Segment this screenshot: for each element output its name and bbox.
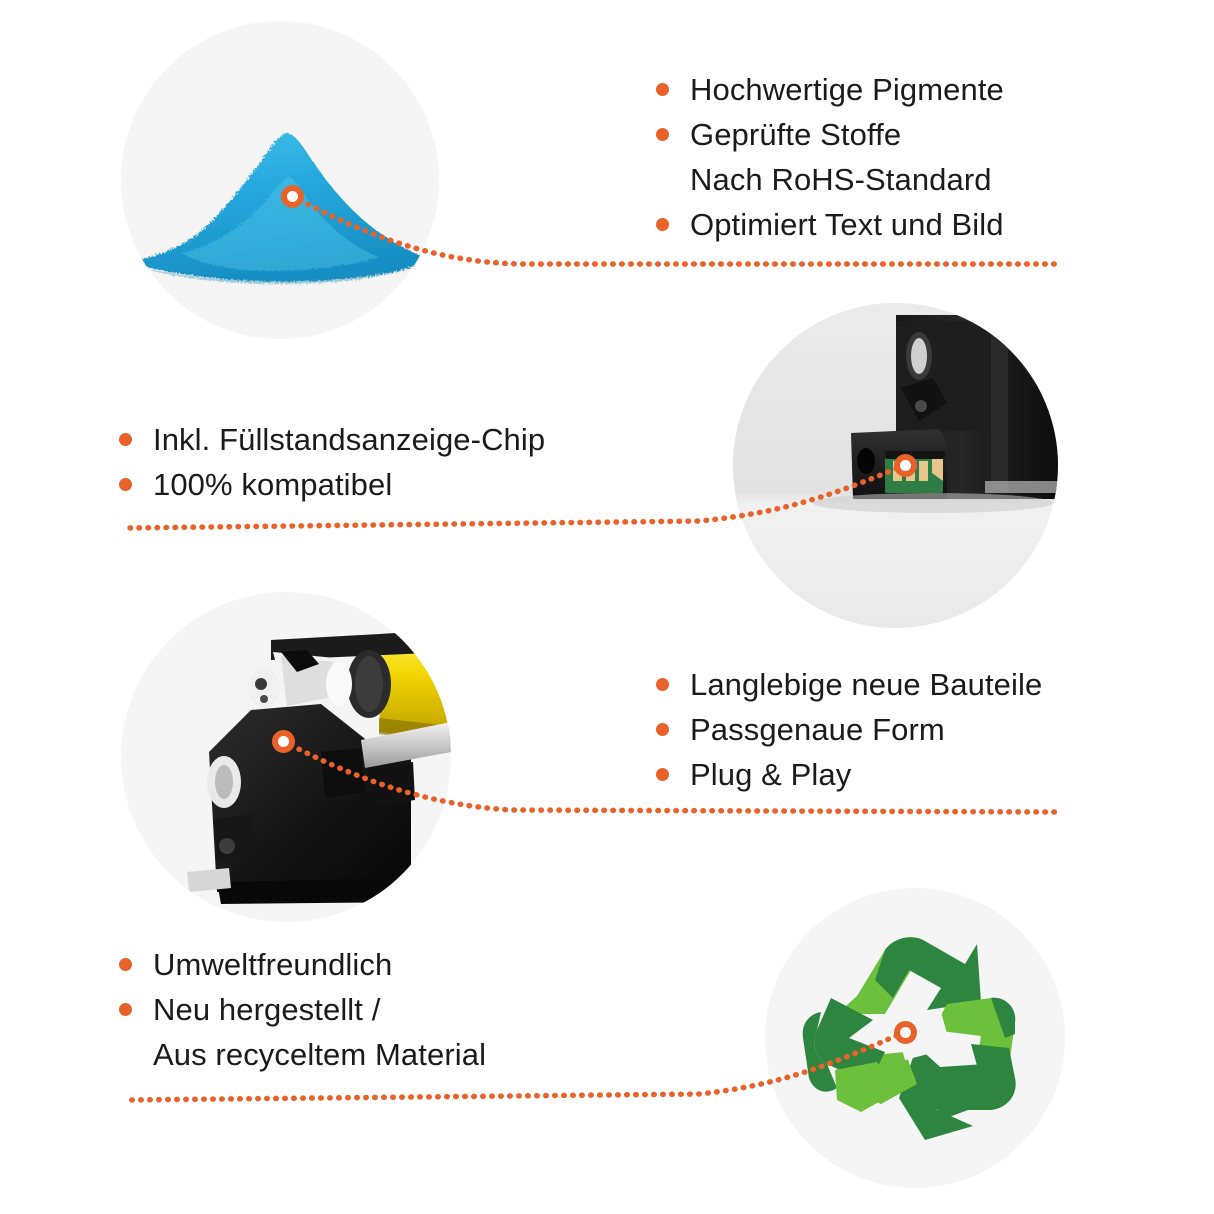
feature-bullet-item: Aus recyceltem Material	[119, 1032, 486, 1077]
cartridge-roller-core	[911, 338, 927, 374]
bullet-dot-icon	[656, 218, 669, 231]
feature-label: Hochwertige Pigmente	[690, 67, 1004, 112]
bullet-dot-icon	[656, 723, 669, 736]
bullet-dot-icon	[656, 83, 669, 96]
feature-label: Inkl. Füllstandsanzeige-Chip	[153, 417, 545, 462]
chip-arm-notch	[857, 448, 875, 474]
gear-pin-hole	[260, 695, 268, 703]
housing-screw	[219, 838, 235, 854]
feature-bullet-item: Plug & Play	[656, 752, 1042, 797]
bullet-spacer	[656, 173, 669, 186]
feature-bullet-item: Passgenaue Form	[656, 707, 1042, 752]
bullet-dot-icon	[119, 433, 132, 446]
feature-label: Geprüfte Stoffe	[690, 112, 901, 157]
bullet-dot-icon	[119, 1003, 132, 1016]
marker-toner-powder	[281, 185, 304, 208]
cartridge-shadow	[813, 493, 1053, 513]
drum-base-reflection	[187, 868, 231, 892]
feature-label: Passgenaue Form	[690, 707, 945, 752]
drum-unit-components-photo	[121, 592, 451, 922]
feature-image-components	[121, 592, 451, 922]
feature-bullet-item: Neu hergestellt /	[119, 987, 486, 1032]
feature-text-level-chip: Inkl. Füllstandsanzeige-Chip 100% kompat…	[119, 417, 545, 507]
bullet-dot-icon	[656, 678, 669, 691]
feature-bullet-item: Langlebige neue Bauteile	[656, 662, 1042, 707]
feature-label: Aus recyceltem Material	[153, 1032, 486, 1077]
feature-text-environment: Umweltfreundlich Neu hergestellt / Aus r…	[119, 942, 486, 1077]
housing-rib	[213, 814, 257, 860]
housing-roller-core	[215, 765, 233, 799]
feature-bullet-item: Nach RoHS-Standard	[656, 157, 1004, 202]
gear-pin-hole	[255, 678, 267, 690]
infographic-canvas: Hochwertige Pigmente Geprüfte Stoffe Nac…	[0, 0, 1214, 1214]
bullet-spacer	[119, 1048, 132, 1061]
feature-label: Langlebige neue Bauteile	[690, 662, 1042, 707]
bullet-dot-icon	[656, 768, 669, 781]
feature-bullet-item: Optimiert Text und Bild	[656, 202, 1004, 247]
feature-label: Neu hergestellt /	[153, 987, 380, 1032]
cartridge-base-reflection	[985, 481, 1058, 493]
cyan-toner-powder-photo	[121, 21, 439, 339]
housing-panel	[369, 762, 415, 806]
feature-bullet-item: Hochwertige Pigmente	[656, 67, 1004, 112]
feature-label: Umweltfreundlich	[153, 942, 392, 987]
feature-bullet-item: 100% kompatibel	[119, 462, 545, 507]
feature-text-components: Langlebige neue Bauteile Passgenaue Form…	[656, 662, 1042, 797]
marker-level-chip	[894, 454, 917, 477]
gear-hub	[326, 662, 352, 706]
feature-label: Plug & Play	[690, 752, 851, 797]
bullet-dot-icon	[119, 478, 132, 491]
feature-bullet-item: Geprüfte Stoffe	[656, 112, 1004, 157]
drum-base	[217, 878, 421, 904]
feature-bullet-item: Inkl. Füllstandsanzeige-Chip	[119, 417, 545, 462]
marker-environment	[894, 1021, 917, 1044]
feature-label: 100% kompatibel	[153, 462, 392, 507]
marker-components	[272, 730, 295, 753]
feature-label: Nach RoHS-Standard	[690, 157, 992, 202]
feature-bullet-item: Umweltfreundlich	[119, 942, 486, 987]
housing-panel	[321, 748, 365, 798]
feature-image-toner-powder	[121, 21, 439, 339]
cartridge-top-block	[896, 321, 991, 431]
cartridge-screw	[915, 400, 927, 412]
feature-label: Optimiert Text und Bild	[690, 202, 1004, 247]
bullet-dot-icon	[656, 128, 669, 141]
chip-contact-pad	[919, 461, 928, 481]
rubber-roller-face	[355, 656, 383, 712]
bullet-dot-icon	[119, 958, 132, 971]
cartridge-side-panel	[991, 325, 1008, 491]
chip-clip	[885, 451, 945, 459]
feature-text-toner-powder: Hochwertige Pigmente Geprüfte Stoffe Nac…	[656, 67, 1004, 247]
